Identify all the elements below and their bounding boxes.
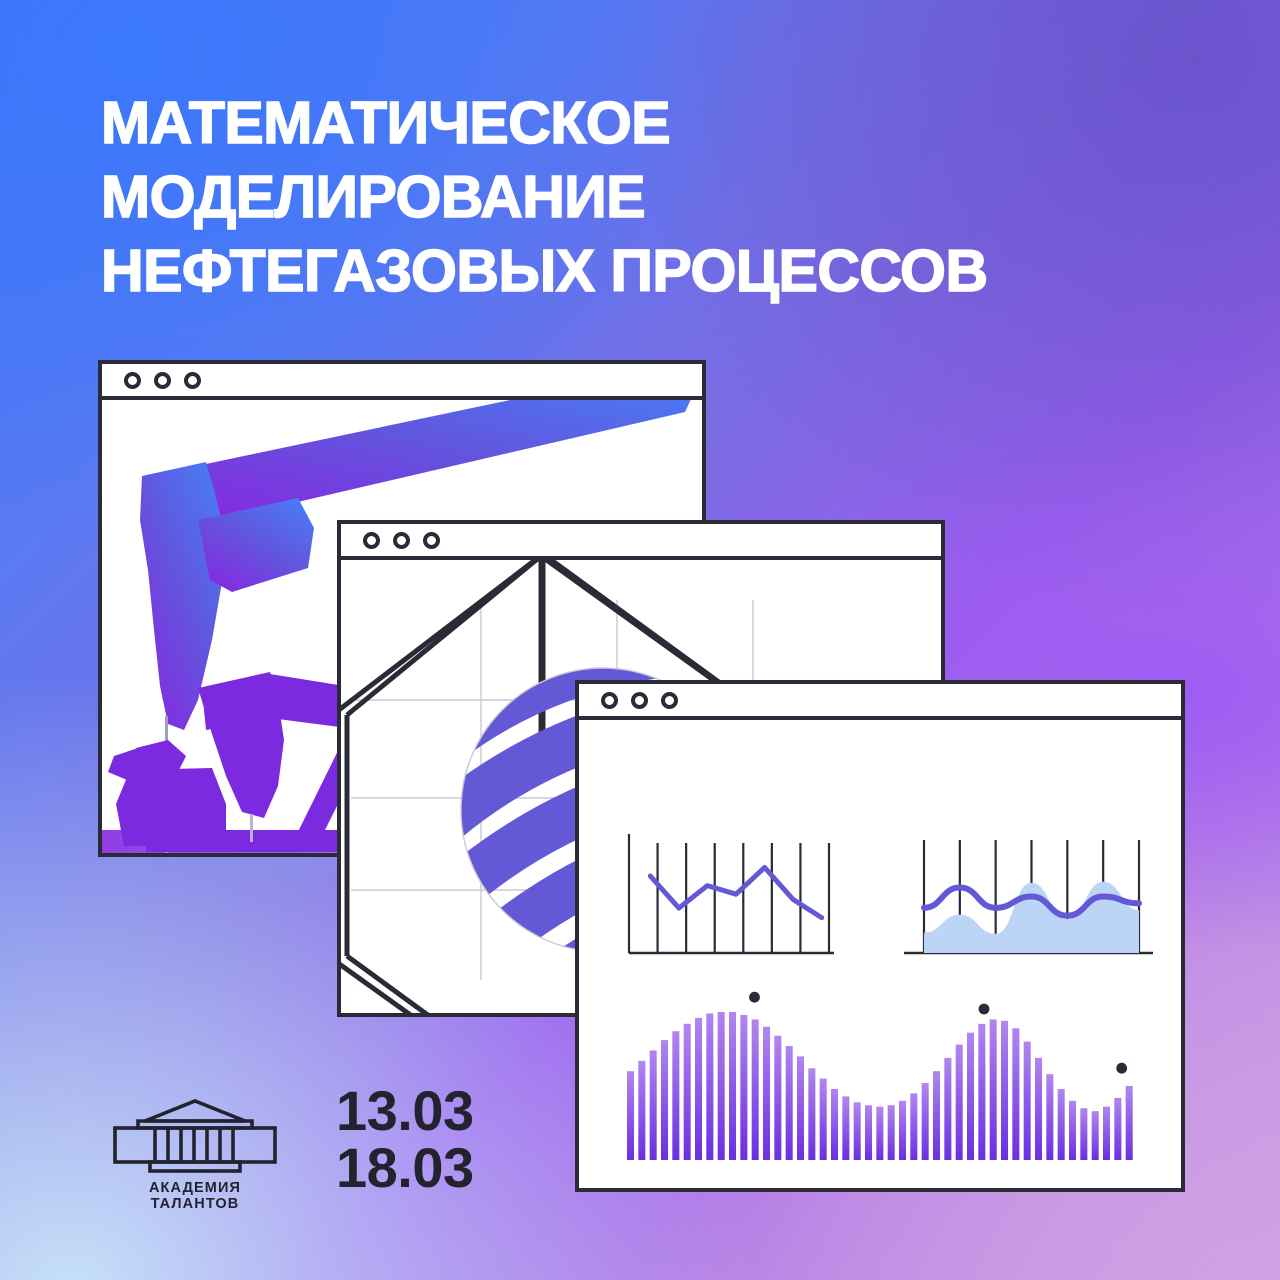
- logo-name: АКАДЕМИЯ ТАЛАНТОВ: [105, 1180, 285, 1212]
- line-chart[interactable]: [629, 834, 834, 953]
- traffic-light-dot-icon[interactable]: [393, 532, 410, 549]
- traffic-light-dot-icon[interactable]: [661, 692, 678, 709]
- window-titlebar: [579, 684, 1181, 720]
- traffic-light-dot-icon[interactable]: [631, 692, 648, 709]
- charts-dashboard: [579, 720, 1181, 1188]
- event-date-end: 18.03: [336, 1139, 474, 1196]
- page-title: МАТЕМАТИЧЕСКОЕ МОДЕЛИРОВАНИЕ НЕФТЕГАЗОВЫ…: [101, 86, 1161, 308]
- traffic-light-dot-icon[interactable]: [184, 372, 201, 389]
- traffic-light-dot-icon[interactable]: [124, 372, 141, 389]
- traffic-light-dot-icon[interactable]: [423, 532, 440, 549]
- wave-bar-chart[interactable]: [627, 992, 1133, 1160]
- academy-logo: АКАДЕМИЯ ТАЛАНТОВ: [105, 1097, 285, 1212]
- poster-canvas: МАТЕМАТИЧЕСКОЕ МОДЕЛИРОВАНИЕ НЕФТЕГАЗОВЫ…: [0, 0, 1280, 1280]
- event-dates: 13.03 18.03: [336, 1082, 474, 1196]
- window-titlebar: [341, 524, 941, 560]
- traffic-light-dot-icon[interactable]: [363, 532, 380, 549]
- event-date-start: 13.03: [336, 1082, 474, 1139]
- traffic-light-dot-icon[interactable]: [154, 372, 171, 389]
- classical-building-icon: [105, 1097, 285, 1173]
- traffic-light-dot-icon[interactable]: [601, 692, 618, 709]
- title-line-2: МОДЕЛИРОВАНИЕ: [101, 160, 1161, 234]
- window-titlebar: [102, 364, 702, 400]
- area-chart[interactable]: [904, 840, 1153, 953]
- analytics-charts-window[interactable]: [575, 680, 1185, 1192]
- title-line-1: МАТЕМАТИЧЕСКОЕ: [101, 86, 1161, 160]
- charts-svg: [579, 720, 1181, 1188]
- title-line-3: НЕФТЕГАЗОВЫХ ПРОЦЕССОВ: [101, 234, 1161, 308]
